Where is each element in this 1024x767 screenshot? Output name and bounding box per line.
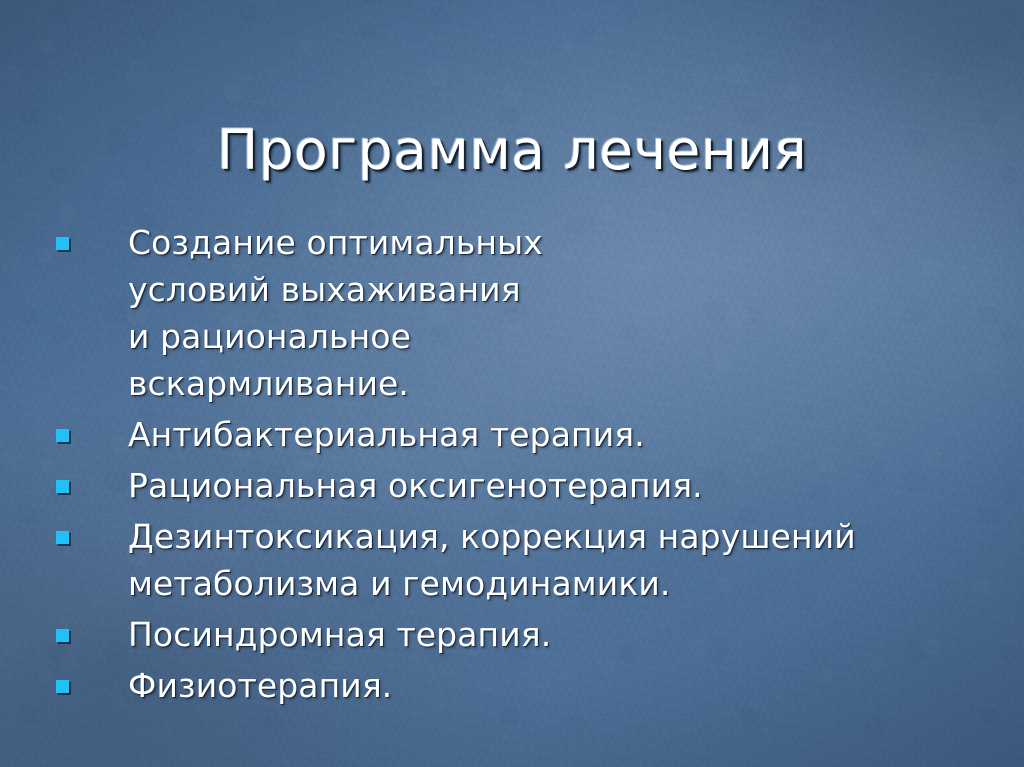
list-item: Физиотерапия. [56, 662, 916, 709]
square-bullet-icon [56, 429, 69, 442]
list-item: Посиндромная терапия. [56, 611, 916, 658]
presentation-slide: Программа лечения Создание оптимальных у… [0, 0, 1024, 767]
square-bullet-icon [56, 531, 69, 544]
list-item-label: Рациональная оксигенотерапия. [128, 462, 916, 509]
list-item-label: Антибактериальная терапия. [128, 411, 916, 458]
slide-content: Программа лечения Создание оптимальных у… [0, 0, 1024, 767]
list-item-label: Дезинтоксикация, коррекция нарушений мет… [128, 513, 903, 607]
slide-title: Программа лечения [0, 119, 1024, 181]
square-bullet-icon [56, 480, 69, 493]
list-item-label: Создание оптимальных условий выхаживания… [128, 219, 548, 407]
bullet-list: Создание оптимальных условий выхаживания… [56, 219, 916, 713]
list-item: Рациональная оксигенотерапия. [56, 462, 916, 509]
list-item-label: Посиндромная терапия. [128, 611, 916, 658]
square-bullet-icon [56, 680, 69, 693]
list-item: Создание оптимальных условий выхаживания… [56, 219, 916, 407]
square-bullet-icon [56, 629, 69, 642]
list-item: Антибактериальная терапия. [56, 411, 916, 458]
list-item: Дезинтоксикация, коррекция нарушений мет… [56, 513, 916, 607]
list-item-label: Физиотерапия. [128, 662, 916, 709]
square-bullet-icon [56, 237, 69, 250]
